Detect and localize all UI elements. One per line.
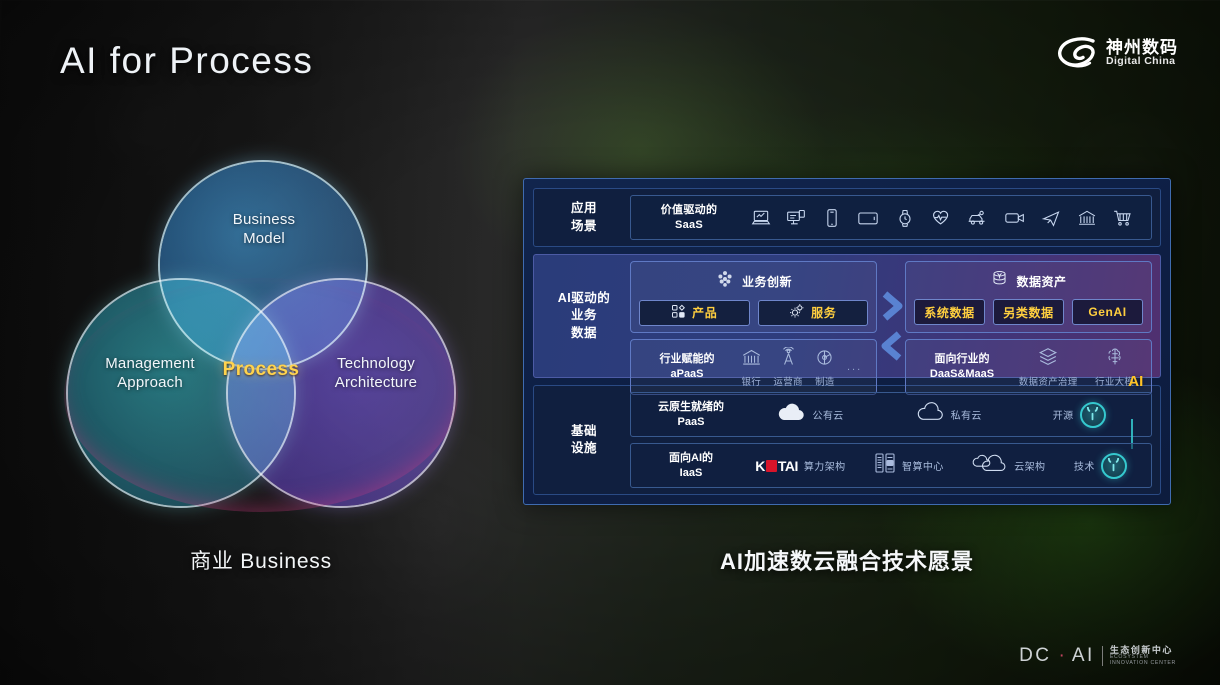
data-asset-panel: 数据资产 系统数据 另类数据 GenAI [905,261,1152,333]
daas-maas-label: 面向行业的 DaaS&MaaS [914,352,1010,382]
infra-item-cloud-architecture: 云架构 [972,453,1045,478]
database-icon [990,269,1009,293]
footer-divider [1102,646,1103,666]
slide-canvas: AI for Process 神州数码 Digital China Busine… [0,0,1220,685]
infra-item-caption: 智算中心 [902,458,944,473]
footer-dot: · [1059,645,1065,667]
label-line1: 面向行业的 [914,352,1010,367]
apaas-item-bank: 银行 [741,347,762,388]
arch-row-title: 基础 设施 [538,392,630,488]
brand-name-cn: 神州数码 [1106,39,1178,57]
label-line1: 面向AI的 [641,451,741,466]
label-line2: DaaS&MaaS [914,367,1010,382]
apaas-ellipsis: ... [847,361,862,373]
tablet-icon [857,208,879,228]
venn-label-line1: Business [208,210,320,229]
brand-name-en: Digital China [1106,56,1178,67]
venn-diagram: Business Model Management Approach Techn… [68,162,454,512]
business-innovation-label: 业务创新 [742,273,792,290]
data-asset-column: 数据资产 系统数据 另类数据 GenAI [891,261,1152,395]
footer-wordmark-ai: AI [1072,645,1095,667]
openapi-ring-icon [1080,402,1106,428]
infra-item-caption: 技术 [1074,458,1095,473]
arch-row-title: AI驱动的 业务 数据 [538,261,630,371]
label-line2: PaaS [641,415,741,430]
value-driven-saas-label: 价值驱动的 SaaS [641,203,737,233]
label-line2: IaaS [641,466,741,481]
cloud-native-paas-items: 公有云 私有云 开源 [741,402,1145,428]
label-line1: 云原生就绪的 [641,400,741,415]
business-innovation-header: 业务创新 [715,269,792,294]
venn-circle-technology-architecture [228,280,454,506]
daas-maas-panel: 面向行业的 DaaS&MaaS 数据资产治理 行业大模 [905,339,1152,395]
arch-row-body: 价值驱动的 SaaS [630,195,1152,240]
chip-service-label: 服务 [811,304,836,321]
chip-service[interactable]: 服务 [758,300,869,326]
arch-row-title-line2: 场景 [571,218,597,236]
infra-item-caption: 私有云 [951,407,982,422]
infra-item-private-cloud: 私有云 [915,402,982,427]
ai-iaas-items: K TAI 算力架构 [741,451,1145,480]
laptop-chart-icon [751,208,771,228]
apaas-item-manufacturing: 制造 [814,347,835,388]
bank-icon [741,347,762,373]
kutai-logo: K TAI [755,458,798,474]
apaas-item-carrier: 运营商 [773,347,802,388]
kutai-logo-k: K [755,458,765,474]
kutai-logo-block [766,460,777,472]
data-asset-chips: 系统数据 另类数据 GenAI [914,299,1143,325]
page-title: AI for Process [60,40,313,82]
chip-genai[interactable]: GenAI [1072,299,1143,325]
data-columns: 业务创新 产品 服务 [630,261,1152,395]
arch-row-title-line2: 业务 [571,307,597,325]
chip-alternative-data[interactable]: 另类数据 [993,299,1064,325]
multi-cloud-icon [972,453,1008,478]
apaas-label: 行业赋能的 aPaaS [639,352,735,382]
value-driven-saas-box: 价值驱动的 SaaS [630,195,1152,240]
cube-network-icon [715,269,735,294]
signal-tower-icon [778,347,799,373]
chip-system-data-label: 系统数据 [924,304,974,321]
gears-icon [789,303,805,322]
arch-row-title-line2: 设施 [571,440,597,458]
chip-genai-label: GenAI [1088,305,1126,319]
smartphone-icon [822,208,842,228]
architecture-caption: AI加速数云融合技术愿景 [523,544,1171,576]
cloud-outline-icon [915,402,945,427]
infra-item-caption: 开源 [1053,407,1074,422]
arch-row-title: 应用 场景 [538,195,630,240]
arch-row-infrastructure: 基础 设施 云原生就绪的 PaaS 公有云 [533,385,1161,495]
data-asset-header: 数据资产 [990,269,1066,293]
manufacturing-gear-icon [814,347,835,373]
label-line2: aPaaS [639,367,735,382]
cloud-native-paas-box: 云原生就绪的 PaaS 公有云 私有云 开源 [630,392,1152,437]
arch-row-body: 业务创新 产品 服务 [630,261,1152,371]
video-camera-icon [1004,208,1026,228]
footer-badge: DC · AI 生态创新中心 ECOSYSTEM INNOVATION CENT… [1019,645,1176,667]
infra-item-public-cloud: 公有云 [776,402,843,427]
data-asset-label: 数据资产 [1016,273,1066,290]
scenario-icon-strip [737,208,1141,228]
venn-label-line2: Model [208,229,320,248]
infra-item-open-source: 开源 [1053,402,1106,428]
chip-system-data[interactable]: 系统数据 [914,299,985,325]
smartwatch-icon [895,208,915,228]
daas-item-industry-model: 行业大模 AI [1095,346,1134,388]
footer-en-line2: INNOVATION CENTER [1110,661,1176,667]
brain-network-icon [1104,346,1126,373]
label-line2: SaaS [641,218,737,233]
infra-item-caption: 算力架构 [804,458,846,473]
industry-model-ai-badge: AI [1128,373,1143,390]
layered-data-icon [1037,346,1059,373]
daas-maas-items: 数据资产治理 行业大模 AI [1010,346,1143,388]
chip-product-label: 产品 [692,304,717,321]
infra-item-caption: 公有云 [812,407,843,422]
apaas-items: 银行 运营商 制造 ... [735,347,868,388]
arch-row-title-line1: 基础 [571,423,597,441]
cloud-native-paas-label: 云原生就绪的 PaaS [641,400,741,430]
airplane-icon [1041,208,1061,228]
ai-iaas-label: 面向AI的 IaaS [641,451,741,481]
brand-wordmark: 神州数码 Digital China [1106,39,1178,68]
infra-item-technology: 技术 [1074,453,1127,479]
arch-row-title-line3: 数据 [571,325,597,343]
ai-iaas-box: 面向AI的 IaaS K TAI 算力架构 [630,443,1152,488]
apaas-panel: 行业赋能的 aPaaS 银行 运营商 [630,339,877,395]
infra-item-compute-architecture: K TAI 算力架构 [755,458,845,474]
label-line1: 行业赋能的 [639,352,735,367]
daas-item-data-governance: 数据资产治理 [1019,346,1078,388]
infra-item-intelligent-computing-center: AI 智算中心 [874,451,944,480]
spiral-swirl-icon [1057,36,1097,70]
arch-row-body: 云原生就绪的 PaaS 公有云 私有云 开源 [630,392,1152,488]
blocks-icon [671,304,686,322]
brand-logo: 神州数码 Digital China [1057,36,1178,70]
venn-caption: 商业 Business [68,545,454,575]
chip-product[interactable]: 产品 [639,300,750,326]
business-innovation-chips: 产品 服务 [639,300,868,326]
shopping-cart-icon [1112,208,1133,228]
label-line1: 价值驱动的 [641,203,737,218]
svg-text:AI: AI [887,461,893,467]
kutai-logo-tai: TAI [778,458,798,474]
footer-text: 生态创新中心 ECOSYSTEM INNOVATION CENTER [1110,645,1176,667]
chip-alternative-data-label: 另类数据 [1003,304,1053,321]
apaas-item-caption: 运营商 [773,374,802,388]
cloud-filled-icon [776,402,806,427]
heartbeat-icon [930,208,951,228]
infra-item-caption: 云架构 [1014,458,1045,473]
business-innovation-column: 业务创新 产品 服务 [630,261,891,395]
business-innovation-panel: 业务创新 产品 服务 [630,261,877,333]
venn-label-business-model: Business Model [208,210,320,248]
bank-icon [1077,208,1097,228]
daas-item-caption: 数据资产治理 [1019,374,1078,388]
desktop-monitor-icon [786,208,806,228]
arch-row-application-scenarios: 应用 场景 价值驱动的 SaaS [533,188,1161,247]
openapi-ring-icon [1101,453,1127,479]
footer-wordmark-dc: DC [1019,645,1051,667]
venn-center-label: Process [185,358,337,382]
connected-car-icon [966,208,988,228]
architecture-panel: 应用 场景 价值驱动的 SaaS [523,178,1171,505]
arch-row-title-line1: 应用 [571,200,597,218]
arch-row-ai-driven-business-data: AI驱动的 业务 数据 [533,254,1161,378]
arch-row-title-line1: AI驱动的 [558,290,611,308]
apaas-item-caption: 制造 [815,374,835,388]
apaas-item-caption: 银行 [741,374,761,388]
ai-datacenter-icon: AI [874,451,896,480]
